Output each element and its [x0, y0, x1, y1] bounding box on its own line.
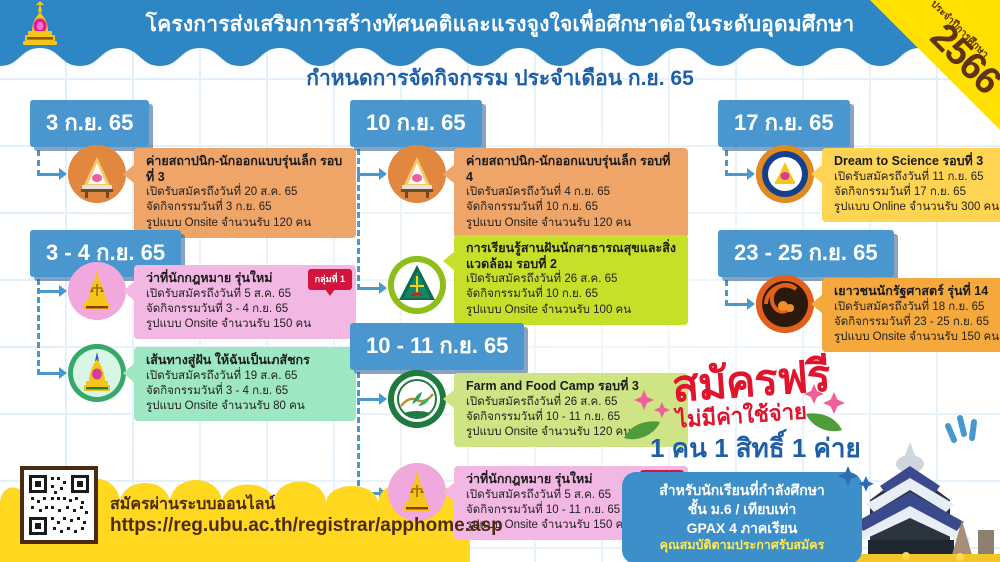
rail-foot-mid-2a	[357, 398, 379, 401]
rail-foot-mid-1a	[357, 173, 379, 176]
agriculture-faculty-icon	[388, 370, 446, 428]
rail-foot-right-2	[725, 303, 747, 306]
rail-foot-left-2a	[37, 290, 59, 293]
rail-arrow-mid-2a	[379, 393, 387, 405]
rail-arrow-left-1	[59, 168, 67, 180]
event-line-3: รูปแบบ Onsite จำนวนรับ 120 คน	[466, 425, 676, 440]
qualification-note: คุณสมบัติตามประกาศรับสมัคร	[638, 537, 846, 554]
poster-root: โครงการส่งเสริมการสร้างทัศนคติและแรงจูงใ…	[0, 0, 1000, 562]
event-line-2: จัดกิจกรรมวันที่ 3 ก.ย. 65	[146, 200, 344, 215]
event-bubble: เยาวชนนักรัฐศาสตร์ รุ่นที่ 14 เปิดรับสมั…	[822, 278, 1000, 352]
qualification-box: สำหรับนักเรียนที่กำลังศึกษา ชั้น ม.6 / เ…	[622, 472, 862, 562]
rail-left-2	[37, 270, 40, 375]
rail-foot-left-2b	[37, 372, 59, 375]
architect-camp-icon	[388, 145, 446, 203]
event-line-1: เปิดรับสมัครถึงวันที่ 18 ก.ย. 65	[834, 300, 1000, 315]
rail-arrow-left-2b	[59, 367, 67, 379]
event-title: Farm and Food Camp รอบที่ 3	[466, 379, 676, 395]
event-line-2: จัดกิจกรรมวันที่ 23 - 25 ก.ย. 65	[834, 315, 1000, 330]
event-title: ค่ายสถาปนิก-นักออกแบบรุ่นเล็ก รอบที่ 4	[466, 154, 676, 185]
rail-arrow-mid-1a	[379, 168, 387, 180]
date-chip-17sep: 17 ก.ย. 65	[718, 100, 850, 147]
event-bubble: Dream to Science รอบที่ 3 เปิดรับสมัครถึ…	[822, 148, 1000, 222]
apply-info: สมัครผ่านระบบออนไลน์ https://reg.ubu.ac.…	[110, 495, 503, 538]
promo-rights-line: 1 คน 1 สิทธิ์ 1 ค่าย	[650, 428, 861, 469]
event-line-1: เปิดรับสมัครถึงวันที่ 26 ส.ค. 65	[466, 395, 676, 410]
header-scallop-edge	[0, 46, 1000, 66]
event-line-1: เปิดรับสมัครถึงวันที่ 26 ส.ค. 65	[466, 272, 676, 287]
event-line-1: เปิดรับสมัครถึงวันที่ 20 ส.ค. 65	[146, 185, 344, 200]
event-line-3: รูปแบบ Onsite จำนวนรับ 120 คน	[466, 216, 676, 231]
architect-camp-icon	[68, 145, 126, 203]
event-line-2: จัดกิจกรรมวันที่ 10 ก.ย. 65	[466, 200, 676, 215]
event-line-1: เปิดรับสมัครถึงวันที่ 4 ก.ย. 65	[466, 185, 676, 200]
pharmacy-faculty-icon	[68, 344, 126, 402]
event-title: การเรียนรู้สานฝันนักสาธารณสุขและสิ่งแวดล…	[466, 241, 676, 272]
event-line-2: จัดกิจกรรมวันที่ 10 - 11 ก.ย. 65	[466, 410, 676, 425]
event-line-3: รูปแบบ Onsite จำนวนรับ 150 คน	[834, 330, 1000, 345]
event-bubble: เส้นทางสู่ฝัน ให้ฉันเป็นเภสัชกร เปิดรับส…	[134, 347, 356, 421]
qualification-line-1: สำหรับนักเรียนที่กำลังศึกษา	[638, 481, 846, 500]
qualification-line-2: ชั้น ม.6 / เทียบเท่า	[638, 500, 846, 519]
rail-foot-left-1	[37, 173, 59, 176]
apply-label: สมัครผ่านระบบออนไลน์	[110, 495, 503, 514]
rail-arrow-right-1	[747, 168, 755, 180]
rail-arrow-mid-1b	[379, 282, 387, 294]
event-line-2: จัดกิจกรรมวันที่ 3 - 4 ก.ย. 65	[146, 384, 344, 399]
date-chip-3sep: 3 ก.ย. 65	[30, 100, 149, 147]
law-faculty-icon	[68, 262, 126, 320]
rail-foot-right-1	[725, 173, 747, 176]
event-title: Dream to Science รอบที่ 3	[834, 154, 1000, 170]
rail-mid-1	[357, 140, 360, 290]
science-faculty-icon	[756, 145, 814, 203]
event-line-3: รูปแบบ Onsite จำนวนรับ 120 คน	[146, 216, 344, 231]
event-title: ค่ายสถาปนิก-นักออกแบบรุ่นเล็ก รอบที่ 3	[146, 154, 344, 185]
date-chip-10-11sep: 10 - 11 ก.ย. 65	[350, 323, 524, 370]
promo-free-headline: สมัครฟรี	[671, 355, 831, 410]
date-chip-23-25sep: 23 - 25 ก.ย. 65	[718, 230, 894, 277]
event-line-3: รูปแบบ Online จำนวนรับ 300 คน	[834, 200, 1000, 215]
event-title: เยาวชนนักรัฐศาสตร์ รุ่นที่ 14	[834, 284, 1000, 300]
event-bubble: การเรียนรู้สานฝันนักสาธารณสุขและสิ่งแวดล…	[454, 235, 688, 325]
ubu-emblem-icon	[8, 1, 72, 57]
event-line-2: จัดกิจกรรมวันที่ 10 ก.ย. 65	[466, 287, 676, 302]
event-title: เส้นทางสู่ฝัน ให้ฉันเป็นเภสัชกร	[146, 353, 344, 369]
event-bubble: ว่าที่นักกฎหมาย รุ่นใหม่ เปิดรับสมัครถึง…	[134, 265, 356, 339]
rail-arrow-left-2a	[59, 285, 67, 297]
event-bubble: ค่ายสถาปนิก-นักออกแบบรุ่นเล็ก รอบที่ 4 เ…	[454, 148, 688, 238]
page-title: โครงการส่งเสริมการสร้างทัศนคติและแรงจูงใ…	[110, 8, 890, 41]
event-line-2: จัดกิจกรรมวันที่ 3 - 4 ก.ย. 65	[146, 302, 344, 317]
rail-foot-mid-1b	[357, 287, 379, 290]
event-line-1: เปิดรับสมัครถึงวันที่ 19 ส.ค. 65	[146, 369, 344, 384]
event-line-3: รูปแบบ Onsite จำนวนรับ 80 คน	[146, 399, 344, 414]
qr-code-icon[interactable]	[20, 466, 98, 544]
page-subtitle: กำหนดการจัดกิจกรรม ประจำเดือน ก.ย. 65	[0, 62, 1000, 95]
event-line-2: จัดกิจกรรมวันที่ 17 ก.ย. 65	[834, 185, 1000, 200]
date-chip-10sep: 10 ก.ย. 65	[350, 100, 482, 147]
event-bubble: ค่ายสถาปนิก-นักออกแบบรุ่นเล็ก รอบที่ 3 เ…	[134, 148, 356, 238]
public-health-icon	[388, 256, 446, 314]
apply-url[interactable]: https://reg.ubu.ac.th/registrar/apphome.…	[110, 514, 503, 538]
group-badge: กลุ่มที่ 1	[308, 269, 352, 290]
qualification-line-3: GPAX 4 ภาคเรียน	[638, 519, 846, 538]
event-line-3: รูปแบบ Onsite จำนวนรับ 100 คน	[466, 303, 676, 318]
event-line-3: รูปแบบ Onsite จำนวนรับ 150 คน	[146, 317, 344, 332]
event-line-1: เปิดรับสมัครถึงวันที่ 11 ก.ย. 65	[834, 170, 1000, 185]
rail-arrow-right-2	[747, 298, 755, 310]
political-science-icon	[756, 275, 814, 333]
